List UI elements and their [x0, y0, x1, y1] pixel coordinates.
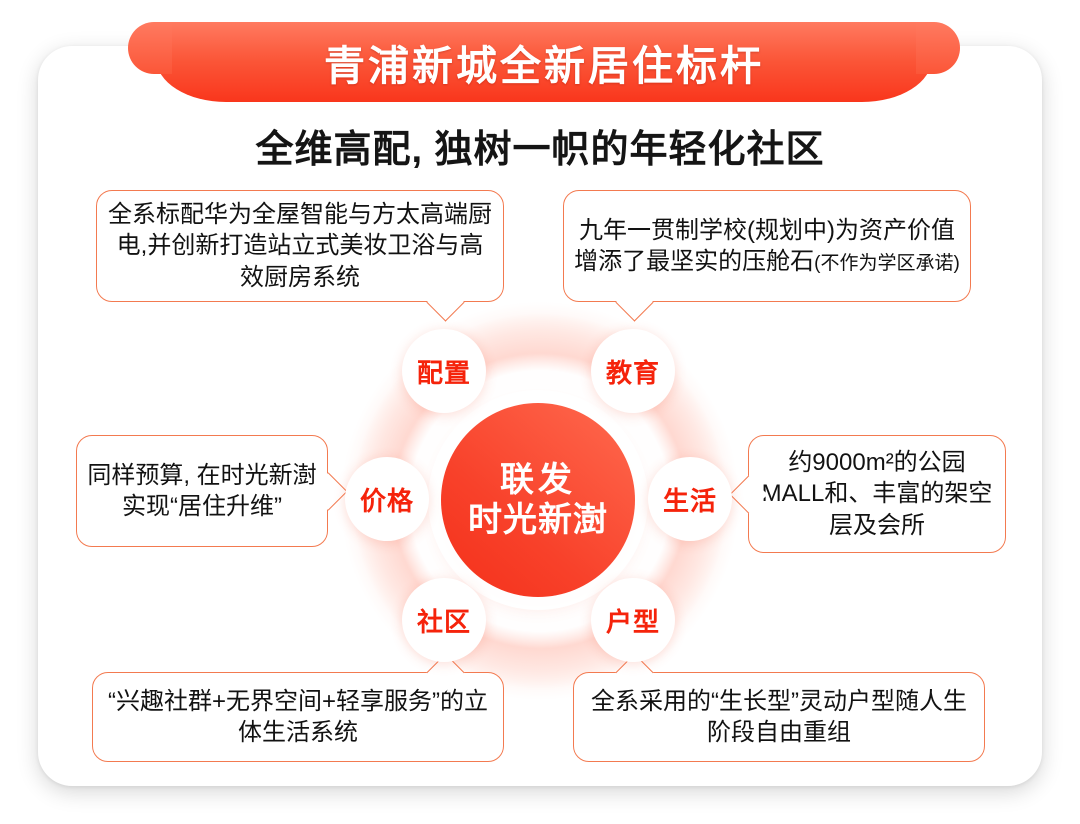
bubble-shequ[interactable]: 社区: [402, 578, 486, 662]
callout-shenghuo[interactable]: 约9000m²的公园MALL和、丰富的架空层及会所: [748, 435, 1006, 553]
banner-title: 青浦新城全新居住标杆: [138, 22, 950, 102]
bubble-peizhi[interactable]: 配置: [402, 329, 486, 413]
callout-huxing-text: 全系采用的“生长型”灵动户型随人生阶段自由重组: [584, 686, 974, 748]
callout-jiage-text: 同样预算, 在时光新澍实现“居住升维”: [87, 460, 317, 522]
bubble-huxing[interactable]: 户型: [591, 578, 675, 662]
bubble-jiaoyu[interactable]: 教育: [591, 329, 675, 413]
callout-shenghuo-text: 约9000m²的公园MALL和、丰富的架空层及会所: [759, 447, 995, 541]
bubble-shenghuo[interactable]: 生活: [648, 457, 732, 541]
callout-jiage[interactable]: 同样预算, 在时光新澍实现“居住升维”: [76, 435, 328, 547]
ribbon-banner: 青浦新城全新居住标杆: [138, 8, 950, 112]
hub-brand-line1: 联发: [500, 460, 576, 500]
bubble-jiage[interactable]: 价格: [345, 457, 429, 541]
callout-jiaoyu-note: (不作为学区承诺): [814, 253, 960, 274]
page-subtitle: 全维高配, 独树一帜的年轻化社区: [0, 118, 1080, 173]
callout-jiaoyu-body: 九年一贯制学校(规划中)为资产价值增添了最坚实的压舱石(不作为学区承诺): [574, 215, 960, 277]
callout-shequ-text: “兴趣社群+无界空间+轻享服务”的立体生活系统: [103, 686, 493, 748]
callout-jiaoyu[interactable]: 九年一贯制学校(规划中)为资产价值增添了最坚实的压舱石(不作为学区承诺): [563, 190, 971, 302]
center-hub: 联发 时光新澍: [441, 403, 635, 597]
infographic-root: 青浦新城全新居住标杆 全维高配, 独树一帜的年轻化社区 联发 时光新澍 配置 教…: [0, 0, 1080, 824]
hub-brand-line2: 时光新澍: [468, 500, 608, 540]
callout-peizhi-text: 全系标配华为全屋智能与方太高端厨电,并创新打造站立式美妆卫浴与高效厨房系统: [107, 199, 493, 293]
